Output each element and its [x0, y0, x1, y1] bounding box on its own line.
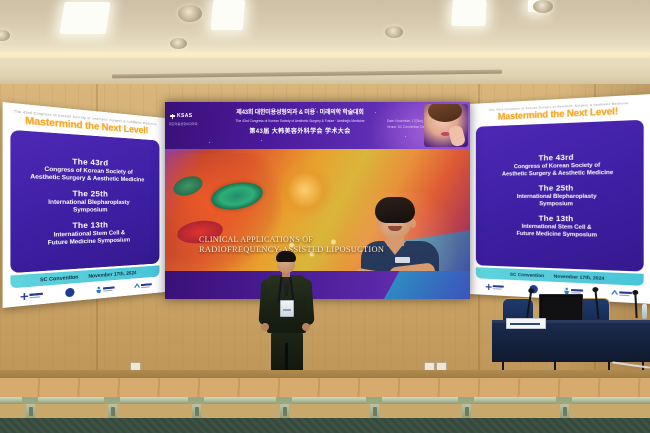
screen-english-title: The 43rd Congress of Korean Society of A… — [220, 119, 380, 123]
poster-block-line2: Symposium — [517, 201, 597, 208]
screen-header-band: KSAS 대한미용성형외과학회 제43회 대한미용성형외과 & 미용 · 미래의… — [165, 102, 470, 149]
hair-shape — [428, 104, 462, 122]
hand-left — [261, 323, 269, 331]
poster-venue: SC Convention — [510, 272, 544, 279]
banner-poster-right: The 43rd Congress of Korean Society of A… — [470, 94, 650, 304]
screen-footer-note — [213, 279, 214, 283]
korea-tourism-logo — [96, 285, 115, 293]
poster-body: The 43rd Congress of Korean Society of A… — [10, 130, 159, 273]
stage-edge-bracket — [458, 397, 474, 404]
ksas-logo — [486, 284, 504, 291]
poster-block-ordinal: The 13th — [517, 213, 597, 223]
conference-hall-scene: The 43rd Congress of Korean Society of A… — [0, 0, 650, 433]
screen-chinese-title: 第43届 大韩美容外科学会 学术大会 — [220, 126, 380, 135]
seoul-mark-icon — [134, 283, 140, 290]
name-badge — [280, 300, 294, 317]
poster-block: The 13th International Stem Cell & Futur… — [48, 219, 130, 247]
stage-edge-bracket — [366, 397, 382, 404]
slide-artwork: CLINICAL APPLICATIONS OF RADIOFREQUENCY-… — [165, 149, 470, 271]
hand-right — [302, 323, 310, 331]
poster-block-line2: Future Medicine Symposium — [517, 231, 597, 240]
ceiling-panel-light — [59, 2, 110, 34]
screen-title-group: 제43회 대한미용성형외과 & 미용 · 미래의학 학술대회 The 43rd … — [220, 107, 380, 135]
poster-block-line1: International Blepharoplasty — [517, 194, 597, 201]
stage-edge-bracket — [276, 397, 292, 404]
screen-ksas-logo: KSAS — [170, 113, 193, 119]
person-icon — [96, 286, 102, 293]
screen-korean-title: 제43회 대한미용성형외과 & 미용 · 미래의학 학술대회 — [220, 107, 380, 116]
poster-body: The 43rd Congress of Korean Society of A… — [476, 120, 644, 272]
hair-shape — [276, 251, 296, 262]
stage-edge-bracket — [556, 397, 572, 404]
screen-footer-ribbon — [384, 271, 470, 299]
abstract-mandala-art — [275, 163, 335, 217]
poster-block: The 13th International Stem Cell & Futur… — [517, 213, 597, 239]
poster-venue: SC Convention — [40, 274, 79, 282]
poster-block: The 25th International Blepharoplasty Sy… — [517, 183, 597, 209]
speaker-portrait-image — [351, 195, 447, 271]
poster-date: November 17th, 2024 — [554, 273, 605, 280]
carpet-floor — [0, 418, 650, 433]
stage-edge-bracket — [22, 397, 38, 404]
stage-edge-bracket — [188, 397, 204, 404]
poster-block: The 25th International Blepharoplasty Sy… — [48, 188, 129, 215]
ceiling-downlight — [385, 26, 403, 38]
power-cable — [612, 361, 650, 368]
cross-icon — [20, 293, 28, 301]
poster-block-line2: Symposium — [48, 207, 129, 215]
poster-block-ordinal: The 43rd — [502, 152, 613, 164]
circle-emblem-logo — [65, 288, 74, 298]
cross-icon — [170, 114, 175, 119]
ksas-logo — [20, 292, 42, 301]
cross-icon — [486, 284, 492, 290]
hand-shape — [448, 125, 466, 147]
poster-block-ordinal: The 25th — [517, 183, 597, 193]
name-plate — [506, 318, 546, 329]
model-portrait-image — [424, 104, 468, 147]
poster-date: November 17th, 2024 — [88, 270, 136, 279]
poster-block-line1: International Blepharoplasty — [48, 200, 129, 208]
microphone[interactable] — [634, 294, 637, 318]
poster-block-line2: Future Medicine Symposium — [48, 237, 130, 248]
head-table — [492, 296, 650, 376]
ceiling — [0, 0, 650, 62]
poster-block-ordinal: The 25th — [48, 188, 129, 199]
ksas-korean-name: 대한미용성형외과학회 — [169, 122, 198, 126]
scrubs-badge — [395, 257, 410, 263]
seoul-government-logo — [134, 282, 152, 290]
ceiling-downlight — [178, 5, 202, 22]
screen-footer-band — [165, 271, 470, 299]
stage-edge-trim — [0, 397, 650, 404]
presenter-standing — [255, 253, 317, 383]
stage-edge-bracket — [104, 397, 120, 404]
ceiling-panel-light — [211, 0, 246, 30]
led-presentation-screen: KSAS 대한미용성형외과학회 제43회 대한미용성형외과 & 미용 · 미래의… — [165, 102, 470, 299]
poster-block: The 43rd Congress of Korean Society of A… — [30, 155, 144, 185]
hair-shape — [375, 197, 415, 223]
ksas-abbr: KSAS — [177, 113, 193, 119]
slide-title-line1: CLINICAL APPLICATIONS OF — [199, 235, 385, 245]
ceiling-downlight — [0, 30, 10, 41]
ceiling-downlight — [533, 0, 553, 13]
banner-poster-left: The 43rd Congress of Korean Society of A… — [3, 102, 165, 308]
water-bottle[interactable] — [642, 304, 647, 319]
poster-block-line2: Aesthetic Surgery & Aesthetic Medicine — [502, 170, 613, 179]
poster-block: The 43rd Congress of Korean Society of A… — [502, 152, 613, 179]
ceiling-panel-light — [451, 0, 486, 26]
ceiling-downlight — [170, 38, 187, 49]
